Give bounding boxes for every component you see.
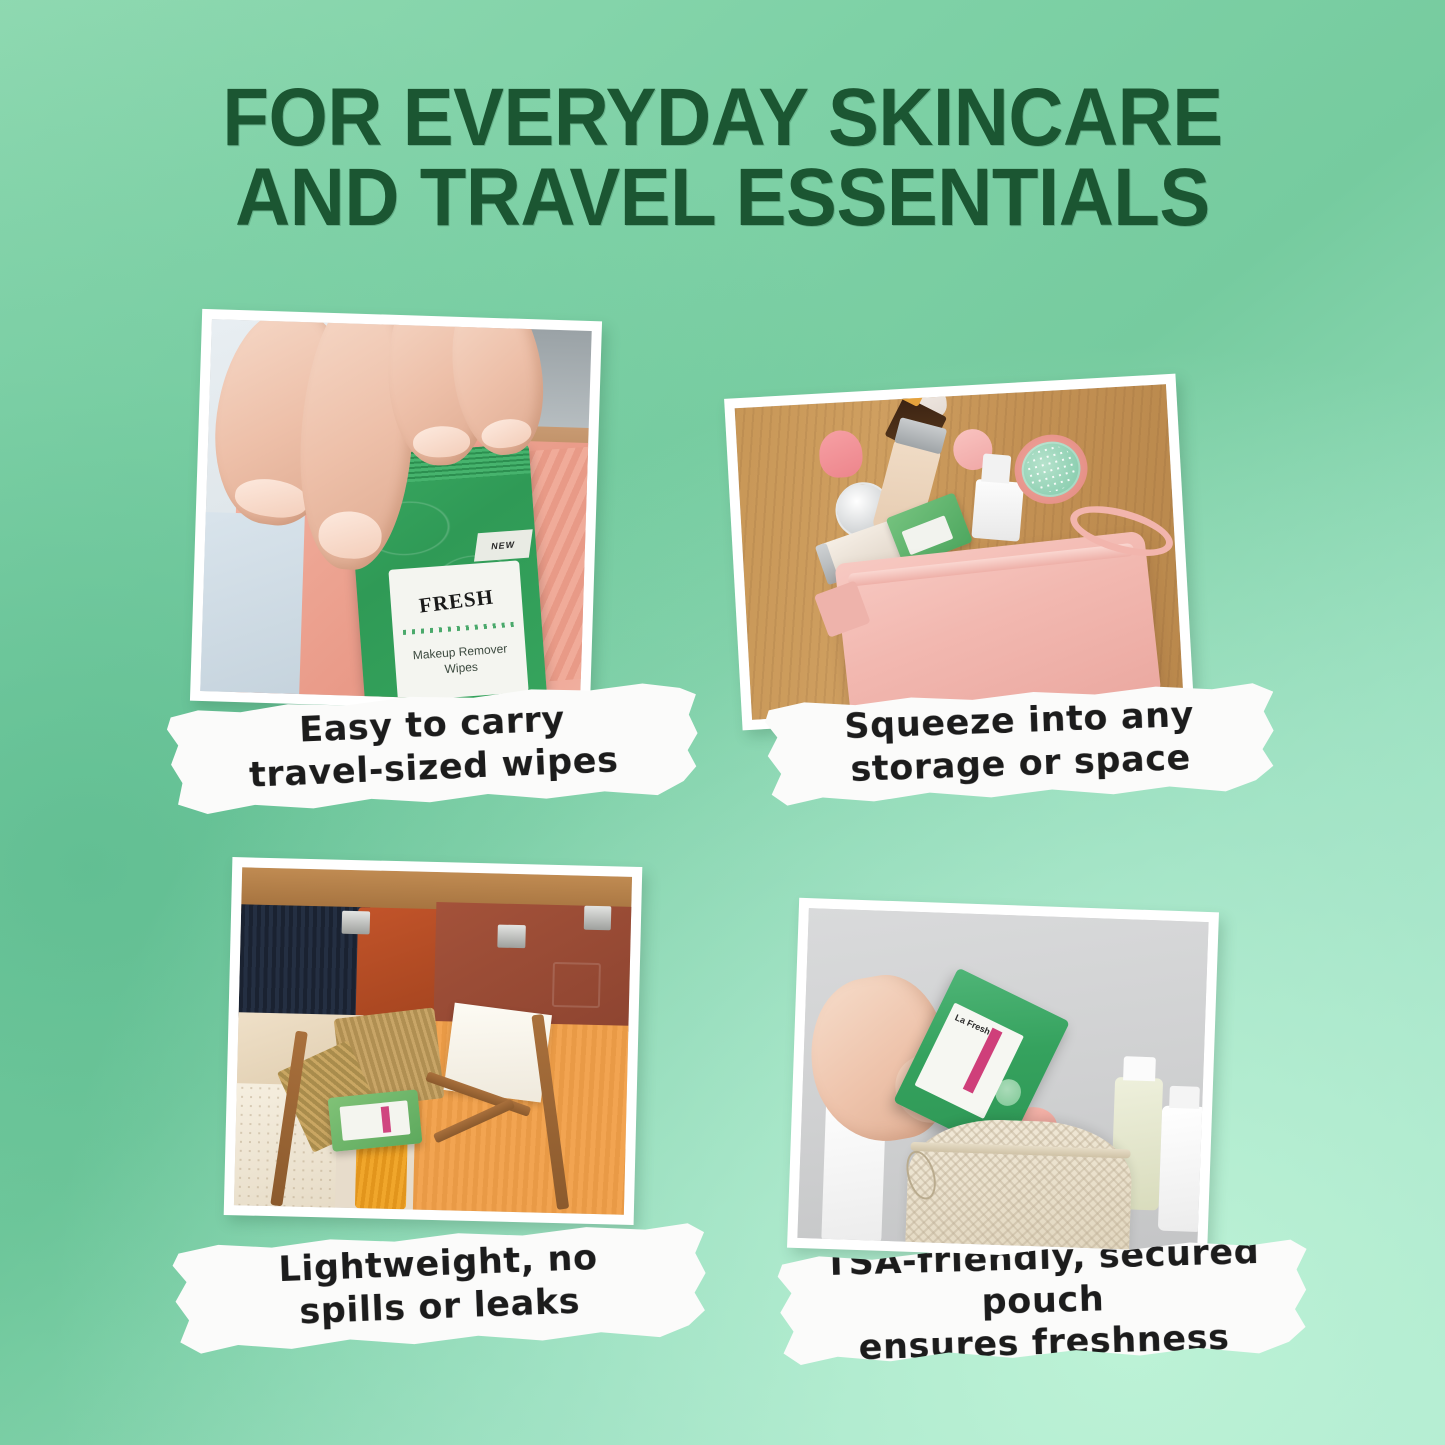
scene3-packet-label (339, 1100, 410, 1141)
feature-photo-card-4: La Fresh (787, 898, 1219, 1262)
scene3-wipes-packet (327, 1089, 422, 1152)
scene4-bottle-cap (1123, 1056, 1156, 1081)
caption-strip-3: Lightweight, no spills or leaks (170, 1218, 708, 1358)
scene3-buckle (498, 924, 526, 948)
photo-packed-suitcase (234, 867, 632, 1214)
scene-2 (735, 384, 1184, 720)
scene3-yellow-knit (355, 1141, 407, 1210)
scene2-spray-nozzle (981, 454, 1012, 485)
scene2-oil-cap (899, 384, 924, 407)
caption-strip-4: TSA-friendly, secured pouch ensures fres… (776, 1236, 1309, 1371)
scene-1: NEW FRESH Makeup Remover Wipes (200, 319, 591, 703)
scene1-fingernail (480, 416, 533, 451)
scene1-fingernail (317, 510, 382, 561)
scene-3 (234, 867, 632, 1214)
scene3-jacket-pocket (551, 962, 601, 1008)
scene2-pink-cosmetic-pouch (834, 531, 1161, 720)
headline-line-1: FOR EVERYDAY SKINCARE (51, 78, 1395, 158)
photo-cosmetics-flatlay (735, 384, 1184, 720)
scene2-brush-pad (1016, 434, 1087, 502)
scene1-fingernail (232, 475, 309, 521)
scene3-buckle (342, 910, 370, 934)
feature-photo-card-2 (724, 374, 1194, 731)
scene2-packet-label (902, 515, 954, 555)
feature-photo-card-3 (224, 857, 643, 1225)
promo-canvas: FOR EVERYDAY SKINCARE AND TRAVEL ESSENTI… (0, 0, 1445, 1445)
scene4-lotion-bottle (1158, 1105, 1206, 1232)
scene3-buckle (584, 906, 612, 930)
page-title: FOR EVERYDAY SKINCARE AND TRAVEL ESSENTI… (51, 78, 1395, 239)
headline-line-2: AND TRAVEL ESSENTIALS (51, 158, 1395, 238)
scene1-product-descriptor: Makeup Remover Wipes (402, 640, 520, 681)
scene1-fingernail (412, 425, 470, 459)
photo-hand-placing-wipes-in-pouch: La Fresh (797, 908, 1208, 1252)
scene-4: La Fresh (797, 908, 1208, 1252)
scene4-bottle-cap (1169, 1086, 1200, 1110)
scene4-brand-text: La Fresh (953, 1012, 991, 1036)
feature-photo-card-1: NEW FRESH Makeup Remover Wipes (190, 309, 602, 713)
scene1-dot-rule (403, 622, 513, 635)
photo-hand-holding-wipes-packet: NEW FRESH Makeup Remover Wipes (200, 319, 591, 703)
scene1-hand (211, 319, 547, 605)
scene4-cream-textured-pouch (905, 1116, 1134, 1252)
scene2-brush-bristles (1022, 440, 1082, 497)
scene4-pouch-zipper (911, 1141, 1131, 1158)
scene2-spray-bottle (972, 479, 1024, 542)
